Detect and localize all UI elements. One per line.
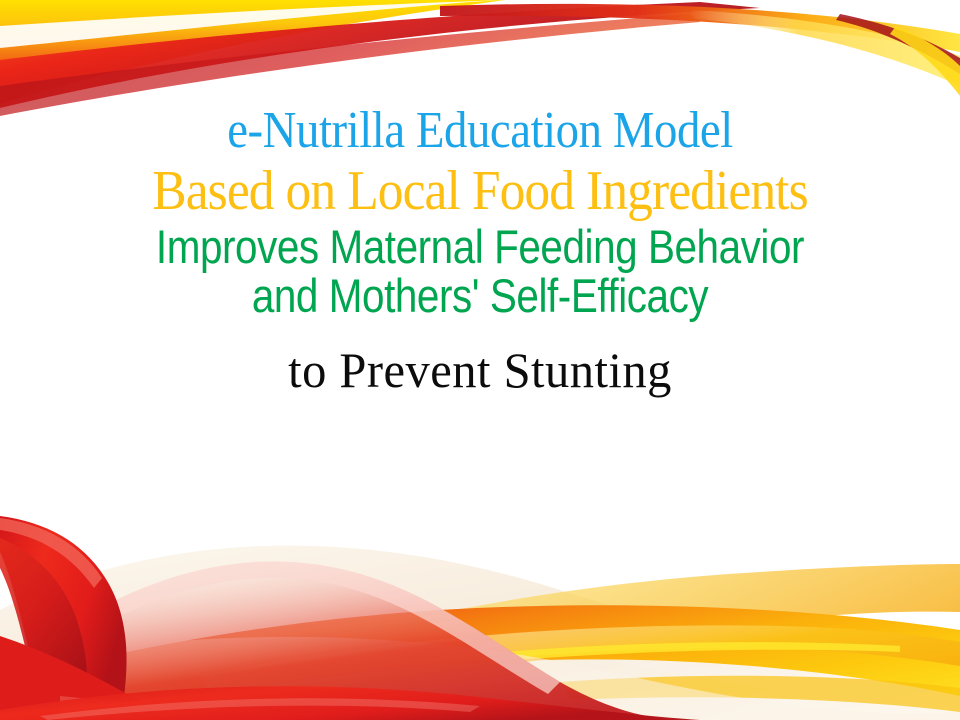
slide-title-block: e-Nutrilla Education Model Based on Loca…	[0, 105, 960, 395]
presentation-slide: e-Nutrilla Education Model Based on Loca…	[0, 0, 960, 720]
title-line-stunting: to Prevent Stunting	[14, 345, 945, 395]
title-line-ingredients: Based on Local Food Ingredients	[38, 163, 921, 219]
title-line-behavior: Improves Maternal Feeding Behavior	[67, 223, 893, 270]
title-line-efficacy: and Mothers' Self-Efficacy	[67, 272, 893, 319]
abstract-wave-ribbon-bottom	[0, 460, 960, 720]
title-line-model: e-Nutrilla Education Model	[48, 105, 912, 157]
